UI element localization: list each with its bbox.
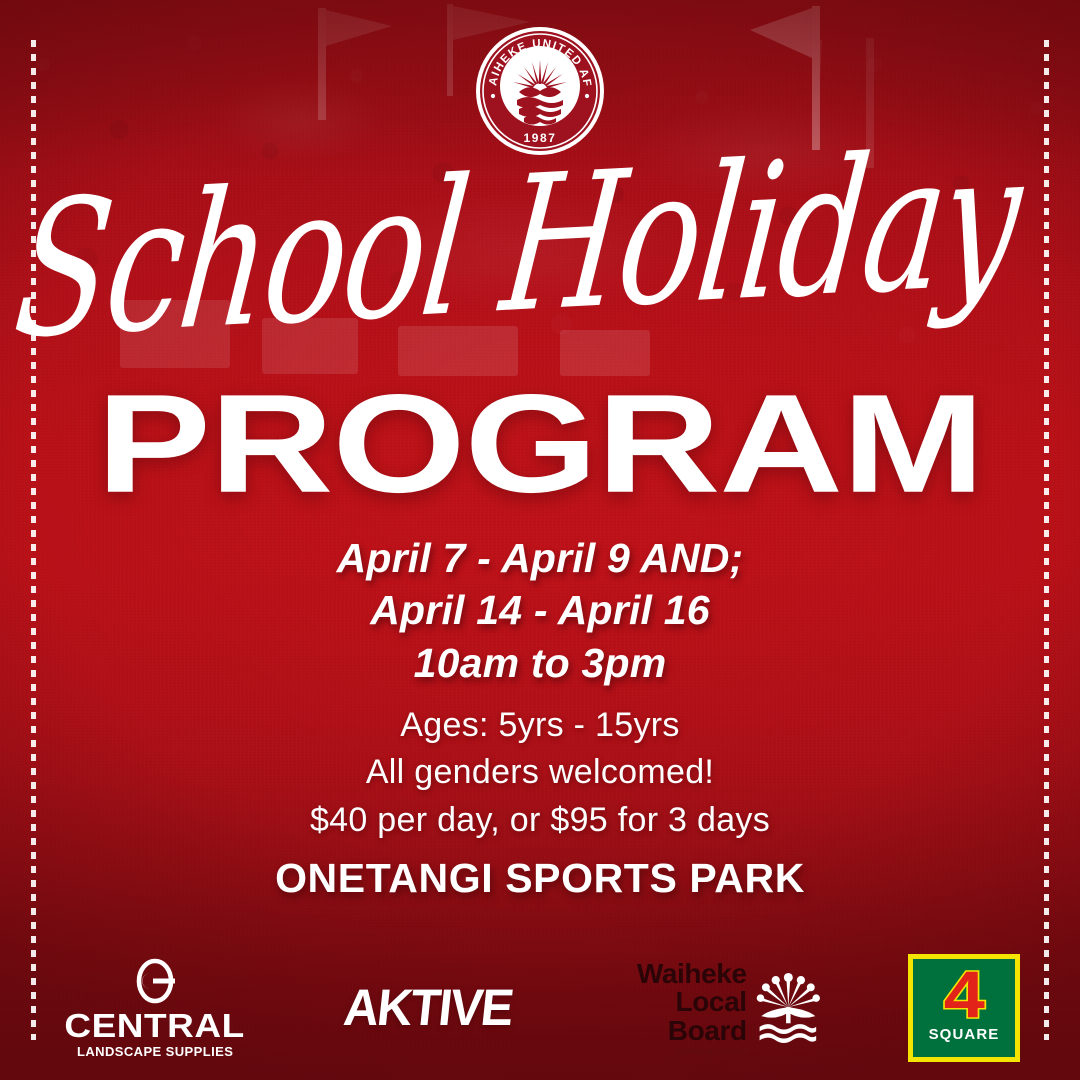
wlb-subtitle: Auckland Council [605,1047,746,1056]
wlb-line-2: Local Board [605,988,746,1045]
dates-line-1: April 7 - April 9 AND; [0,532,1080,584]
central-wordmark: CENTRAL [65,1009,245,1042]
central-tagline: LANDSCAPE SUPPLIES [77,1045,233,1059]
script-headline-text: School Holiday [6,118,1032,381]
sponsor-four-square: 4 SQUARE [908,954,1020,1062]
details-ages: Ages: 5yrs - 15yrs [0,702,1080,749]
venue-name: ONETANGI SPORTS PARK [0,855,1080,902]
details-pricing: $40 per day, or $95 for 3 days [0,797,1080,844]
sponsor-aktive: AKTIVE [338,980,518,1036]
details-genders: All genders welcomed! [0,749,1080,796]
dates-block: April 7 - April 9 AND; April 14 - April … [0,532,1080,689]
dates-line-2: April 14 - April 16 [0,584,1080,636]
four-square-numeral: 4 [943,964,984,1025]
sponsor-central-landscape-supplies: CENTRAL LANDSCAPE SUPPLIES [60,958,250,1059]
page-title-program: PROGRAM [0,374,1080,514]
sponsor-logo-row: CENTRAL LANDSCAPE SUPPLIES AKTIVE Waihek… [60,948,1020,1068]
poster-canvas: WAIHEKE UNITED AFC 1987 School Holiday S… [0,0,1080,1080]
wlb-line-1: Waiheke [605,960,746,989]
script-headline-artwork: School Holiday [0,118,1080,398]
dates-line-3: 10am to 3pm [0,637,1080,689]
auckland-council-pohutukawa-icon [756,967,821,1049]
sponsor-waiheke-local-board: Waiheke Local Board Auckland Council [605,960,820,1057]
central-c-shovel-icon [129,958,181,1004]
details-block: Ages: 5yrs - 15yrs All genders welcomed!… [0,702,1080,844]
aktive-wordmark: AKTIVE [341,979,515,1038]
